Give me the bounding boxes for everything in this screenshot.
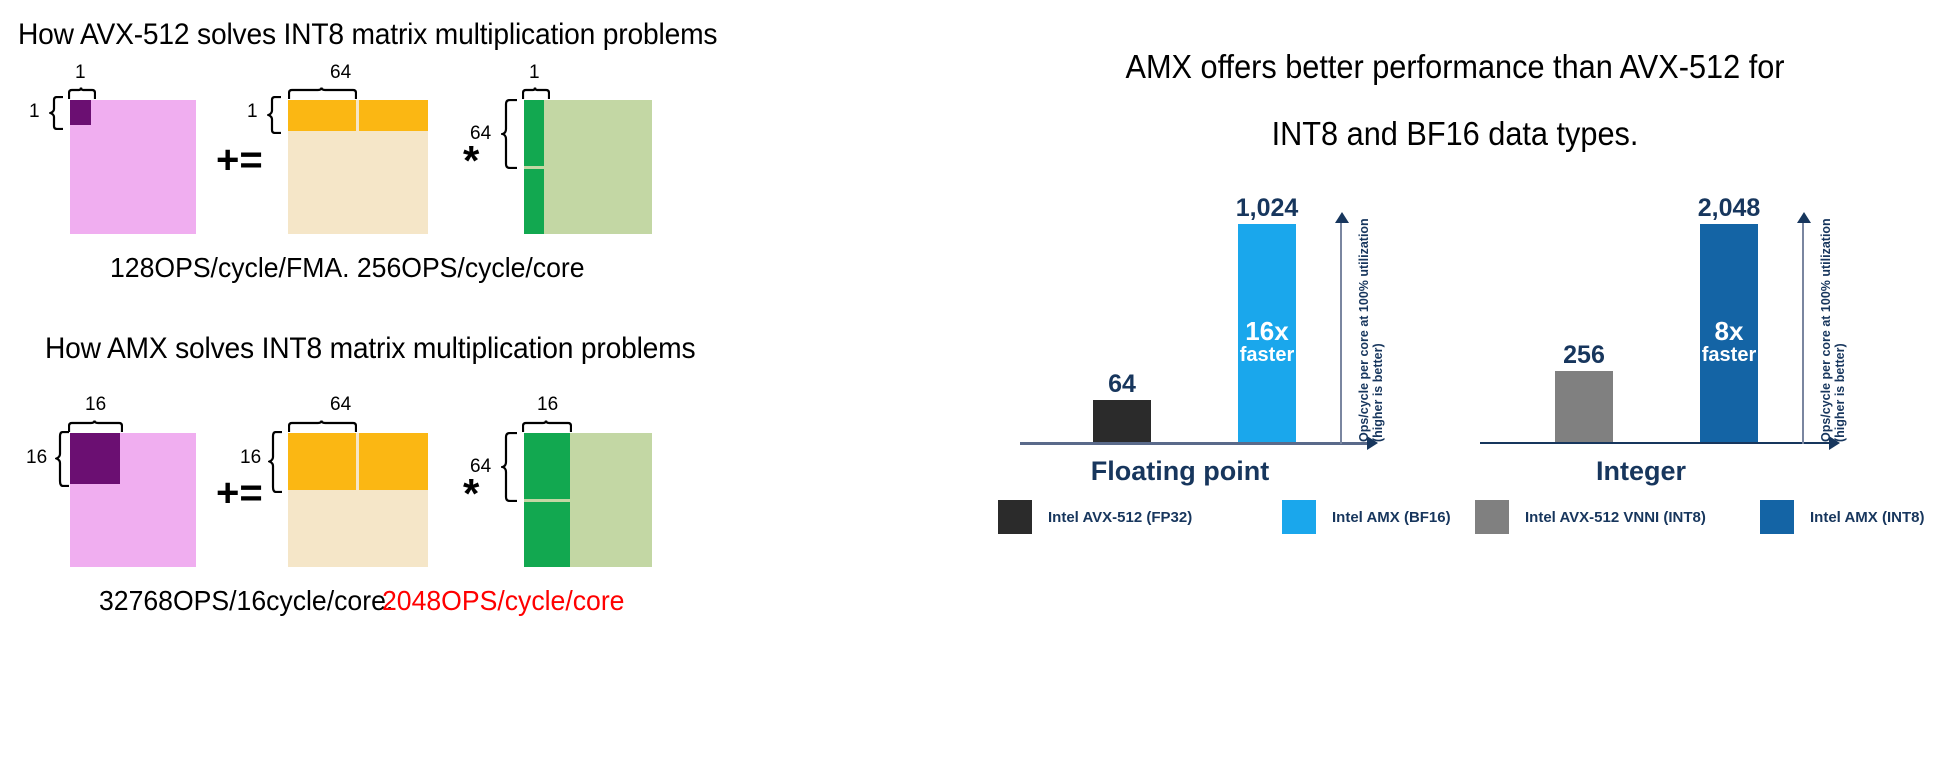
fp-bar-amx-bf16-annotation: 16x faster	[1238, 318, 1296, 366]
avx-c-top-dim-label: 1	[75, 62, 86, 84]
amx-c-top-dim-label: 16	[85, 394, 106, 416]
int-bar-amx-int8-annotation: 8x faster	[1700, 318, 1758, 366]
avx-plus-equals: +=	[216, 140, 263, 180]
performance-charts-panel: AMX offers better performance than AVX-5…	[970, 0, 1940, 776]
int-y-axis-label: Ops/cycle per core at 100% utilization (…	[1819, 218, 1848, 442]
legend-swatch-gray	[1475, 500, 1509, 534]
amx-b-left-brace	[501, 432, 519, 502]
fp-bar-amx-bf16-value: 1,024	[1218, 194, 1316, 223]
chart-headline-line2: INT8 and BF16 data types.	[1004, 115, 1906, 153]
int-y-axis-label-line1: Ops/cycle per core at 100% utilization	[1819, 218, 1833, 442]
int-annotation-faster: faster	[1700, 345, 1758, 366]
avx-a-left-brace	[267, 96, 283, 134]
legend-swatch-darkblue	[1760, 500, 1794, 534]
amx-b-active-col-top	[524, 433, 570, 499]
amx-asterisk: *	[463, 473, 479, 515]
avx-a-top-dim-label: 64	[330, 62, 351, 84]
legend-swatch-lightblue	[1282, 500, 1316, 534]
legend-item-avx512-vnni-int8: Intel AVX-512 VNNI (INT8)	[1475, 500, 1706, 534]
avx-c-top-brace	[68, 86, 96, 100]
fp-x-axis	[1020, 442, 1368, 445]
amx-a-left-dim-label: 16	[240, 447, 261, 469]
amx-plus-equals: +=	[216, 473, 263, 513]
avx-amx-diagram-panel: How AVX-512 solves INT8 matrix multiplic…	[0, 0, 970, 776]
fp-y-axis	[1340, 222, 1342, 444]
amx-a-top-dim-label: 64	[330, 394, 351, 416]
amx-c-top-brace	[68, 419, 123, 433]
avx-b-left-brace	[501, 99, 519, 169]
avx-b-top-dim-label: 1	[529, 62, 540, 84]
avx-a-left-dim-label: 1	[247, 101, 258, 123]
amx-section-title: How AMX solves INT8 matrix multiplicatio…	[45, 332, 695, 366]
fp-y-axis-label: Ops/cycle per core at 100% utilization (…	[1357, 218, 1386, 442]
amx-b-top-brace	[522, 419, 572, 433]
amx-caption-red: 2048OPS/cycle/core	[382, 585, 624, 617]
avx-b-top-brace	[522, 86, 550, 100]
avx-a-top-brace	[288, 86, 357, 100]
amx-b-active-col-bottom	[524, 502, 570, 567]
legend-label-avx512-fp32: Intel AVX-512 (FP32)	[1048, 509, 1192, 526]
amx-c-left-brace	[55, 431, 71, 487]
avx-caption: 128OPS/cycle/FMA. 256OPS/cycle/core	[110, 252, 585, 284]
amx-c-active-block	[70, 433, 120, 484]
int-annotation-multiplier: 8x	[1700, 318, 1758, 345]
legend-item-amx-bf16: Intel AMX (BF16)	[1282, 500, 1451, 534]
amx-a-active-row-left	[288, 433, 356, 490]
int-category-label: Integer	[1480, 456, 1802, 487]
fp-annotation-faster: faster	[1238, 345, 1296, 366]
fp-annotation-multiplier: 16x	[1238, 318, 1296, 345]
avx-a-active-row-left	[288, 100, 356, 131]
legend-label-amx-int8: Intel AMX (INT8)	[1810, 509, 1924, 526]
amx-b-top-dim-label: 16	[537, 394, 558, 416]
avx-b-active-col-top	[524, 100, 544, 166]
int-bar-avx512-vnni-value: 256	[1550, 341, 1618, 370]
fp-bar-avx512-value: 64	[1093, 370, 1151, 399]
amx-caption-black: 32768OPS/16cycle/core.	[99, 585, 393, 617]
avx-c-active-cell	[70, 100, 91, 125]
avx-asterisk: *	[463, 140, 479, 182]
fp-category-label: Floating point	[1020, 456, 1340, 487]
amx-c-left-dim-label: 16	[26, 447, 47, 469]
int-y-axis-label-line2: (higher is better)	[1833, 343, 1847, 442]
legend-item-amx-int8: Intel AMX (INT8)	[1760, 500, 1924, 534]
int-bar-amx-int8-value: 2,048	[1678, 194, 1780, 223]
avx512-section-title: How AVX-512 solves INT8 matrix multiplic…	[18, 18, 717, 52]
amx-a-top-brace	[288, 419, 357, 433]
avx-b-active-col-bottom	[524, 169, 544, 234]
int-y-axis-arrow	[1797, 212, 1811, 223]
avx-c-left-dim-label: 1	[29, 101, 40, 123]
chart-headline-line1: AMX offers better performance than AVX-5…	[1004, 48, 1906, 86]
fp-y-axis-label-line1: Ops/cycle per core at 100% utilization	[1357, 218, 1371, 442]
avx-b-left-dim-label: 64	[470, 123, 491, 145]
avx-c-left-brace	[49, 96, 65, 130]
legend-label-amx-bf16: Intel AMX (BF16)	[1332, 509, 1451, 526]
fp-bar-avx512	[1093, 400, 1151, 442]
fp-y-axis-label-line2: (higher is better)	[1371, 343, 1385, 442]
avx-a-active-row-right	[359, 100, 428, 131]
amx-a-active-row-right	[359, 433, 428, 490]
legend-item-avx512-fp32: Intel AVX-512 (FP32)	[998, 500, 1192, 534]
legend-label-avx512-vnni-int8: Intel AVX-512 VNNI (INT8)	[1525, 509, 1706, 526]
legend-swatch-black	[998, 500, 1032, 534]
amx-b-left-dim-label: 64	[470, 456, 491, 478]
amx-a-left-brace	[268, 431, 284, 493]
int-bar-avx512-vnni	[1555, 371, 1613, 442]
int-y-axis	[1802, 222, 1804, 444]
int-x-axis	[1480, 442, 1830, 444]
fp-y-axis-arrow	[1335, 212, 1349, 223]
